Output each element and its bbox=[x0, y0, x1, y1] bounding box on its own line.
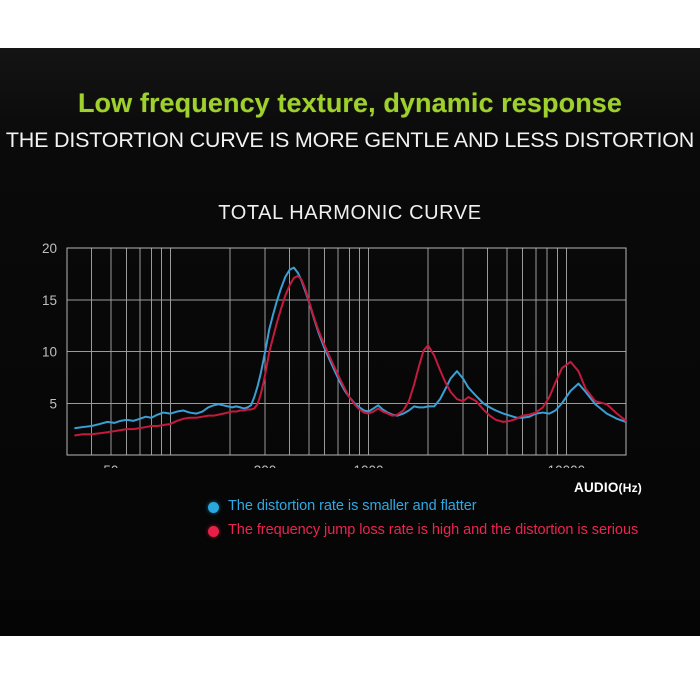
legend-bullet-blue-icon bbox=[208, 502, 219, 513]
y-axis-tick-labels: 2015105 bbox=[42, 241, 57, 411]
legend-item-blue: The distortion rate is smaller and flatt… bbox=[208, 498, 688, 515]
chart-legend: The distortion rate is smaller and flatt… bbox=[208, 498, 688, 546]
svg-text:10: 10 bbox=[42, 345, 57, 360]
svg-text:50: 50 bbox=[103, 463, 118, 468]
svg-text:5: 5 bbox=[49, 396, 57, 411]
screenshot-root: Low frequency texture, dynamic response … bbox=[0, 0, 700, 700]
svg-text:10000: 10000 bbox=[548, 463, 586, 468]
legend-item-red: The frequency jump loss rate is high and… bbox=[208, 522, 688, 539]
hz-unit: (Hz) bbox=[619, 481, 642, 495]
chart-svg: 2015105 50300100010000 bbox=[0, 236, 700, 468]
headline: Low frequency texture, dynamic response bbox=[0, 88, 700, 119]
top-white-band bbox=[0, 0, 700, 48]
legend-bullet-red-icon bbox=[208, 526, 219, 537]
svg-text:20: 20 bbox=[42, 241, 57, 256]
x-axis-tick-labels: 50300100010000 bbox=[103, 463, 585, 468]
legend-label-red: The frequency jump loss rate is high and… bbox=[228, 522, 638, 539]
chart-gridlines bbox=[67, 248, 626, 455]
audio-word: AUDIO bbox=[574, 480, 619, 495]
subheadline: THE DISTORTION CURVE IS MORE GENTLE AND … bbox=[0, 128, 700, 153]
bottom-white-band bbox=[0, 636, 700, 700]
legend-label-blue: The distortion rate is smaller and flatt… bbox=[228, 498, 477, 515]
svg-text:1000: 1000 bbox=[353, 463, 383, 468]
thd-chart: 2015105 50300100010000 bbox=[0, 236, 700, 468]
svg-text:15: 15 bbox=[42, 293, 57, 308]
svg-text:300: 300 bbox=[254, 463, 277, 468]
chart-title: TOTAL HARMONIC CURVE bbox=[0, 202, 700, 225]
x-axis-unit-label: AUDIO(Hz) bbox=[0, 480, 700, 495]
